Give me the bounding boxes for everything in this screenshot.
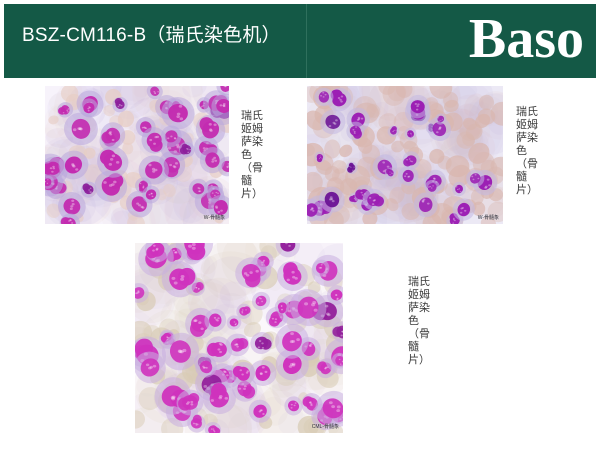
page-title: BSZ-CM116-B（瑞氏染色机） — [22, 20, 281, 47]
micrograph-corner-label-2: W-骨髓象 — [478, 214, 499, 221]
micrograph-canvas-2 — [307, 86, 503, 224]
header-band: BSZ-CM116-B（瑞氏染色机） Baso — [4, 4, 596, 78]
micrograph-corner-label-1: W-骨髓象 — [204, 214, 225, 221]
micrograph-caption-1: 瑞氏姬姆萨染色（骨髓片） — [241, 110, 267, 201]
micrograph-image-3: CML-骨髓象 — [135, 243, 343, 433]
micrograph-image-1: W-骨髓象 — [45, 86, 229, 224]
header-divider — [306, 4, 307, 78]
micrograph-canvas-3 — [135, 243, 343, 433]
content-area: W-骨髓象 瑞氏姬姆萨染色（骨髓片） W-骨髓象 瑞氏姬姆萨染色（骨髓片） CM… — [0, 78, 600, 450]
micrograph-corner-label-3: CML-骨髓象 — [312, 423, 339, 430]
micrograph-canvas-1 — [45, 86, 229, 224]
micrograph-caption-3: 瑞氏姬姆萨染色（骨髓片） — [408, 276, 434, 367]
micrograph-image-2: W-骨髓象 — [307, 86, 503, 224]
brand-logo: Baso — [469, 2, 584, 76]
micrograph-caption-2: 瑞氏姬姆萨染色（骨髓片） — [516, 106, 542, 197]
